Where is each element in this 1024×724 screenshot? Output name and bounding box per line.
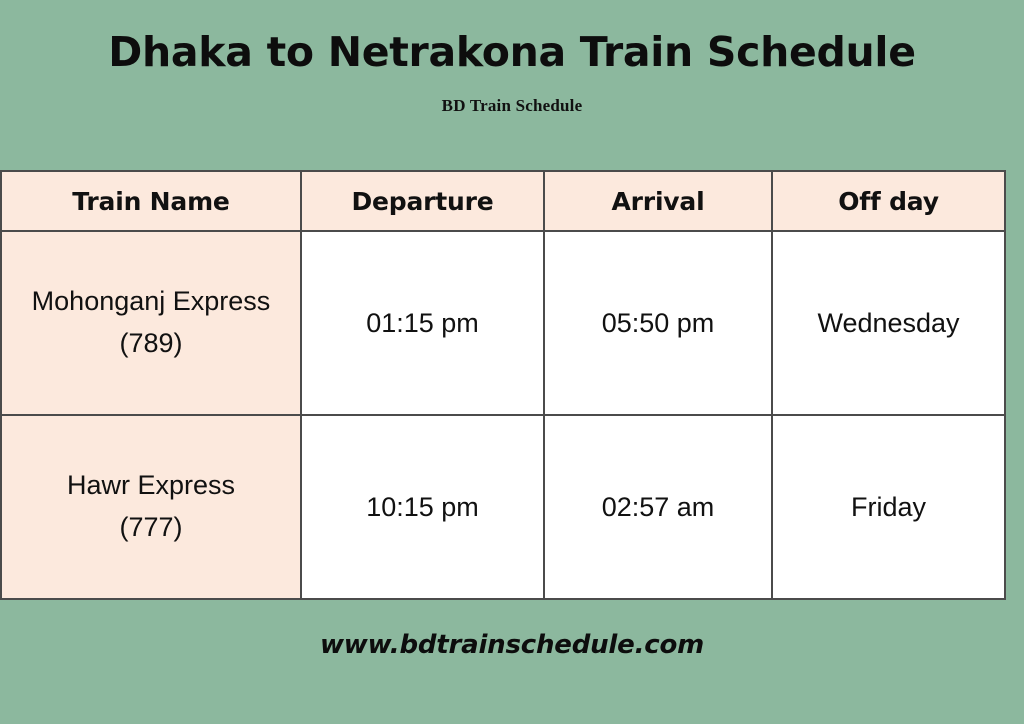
- table-row: Hawr Express (777) 10:15 pm 02:57 am Fri…: [1, 415, 1005, 599]
- train-code-text: (789): [10, 323, 292, 365]
- page-title: Dhaka to Netrakona Train Schedule: [0, 0, 1024, 76]
- poster-header: Dhaka to Netrakona Train Schedule BD Tra…: [0, 0, 1024, 116]
- column-header-arrival: Arrival: [544, 171, 772, 231]
- column-header-departure: Departure: [301, 171, 544, 231]
- cell-arrival: 05:50 pm: [544, 231, 772, 415]
- cell-off-day: Wednesday: [772, 231, 1005, 415]
- cell-train-name: Mohonganj Express (789): [1, 231, 301, 415]
- table-header: Train Name Departure Arrival Off day: [1, 171, 1005, 231]
- page-subtitle: BD Train Schedule: [0, 76, 1024, 116]
- column-header-train-name: Train Name: [1, 171, 301, 231]
- train-name-text: Hawr Express: [10, 465, 292, 507]
- train-code-text: (777): [10, 507, 292, 549]
- cell-arrival: 02:57 am: [544, 415, 772, 599]
- column-header-off-day: Off day: [772, 171, 1005, 231]
- cell-train-name: Hawr Express (777): [1, 415, 301, 599]
- train-name-text: Mohonganj Express: [10, 281, 292, 323]
- table-row: Mohonganj Express (789) 01:15 pm 05:50 p…: [1, 231, 1005, 415]
- train-schedule-poster: Dhaka to Netrakona Train Schedule BD Tra…: [0, 0, 1024, 724]
- train-schedule-table: Train Name Departure Arrival Off day Moh…: [0, 170, 1006, 600]
- table-header-row: Train Name Departure Arrival Off day: [1, 171, 1005, 231]
- cell-departure: 01:15 pm: [301, 231, 544, 415]
- cell-off-day: Friday: [772, 415, 1005, 599]
- table-body: Mohonganj Express (789) 01:15 pm 05:50 p…: [1, 231, 1005, 599]
- cell-departure: 10:15 pm: [301, 415, 544, 599]
- schedule-table-container: Train Name Departure Arrival Off day Moh…: [0, 170, 1004, 600]
- footer-website: www.bdtrainschedule.com: [0, 630, 1024, 660]
